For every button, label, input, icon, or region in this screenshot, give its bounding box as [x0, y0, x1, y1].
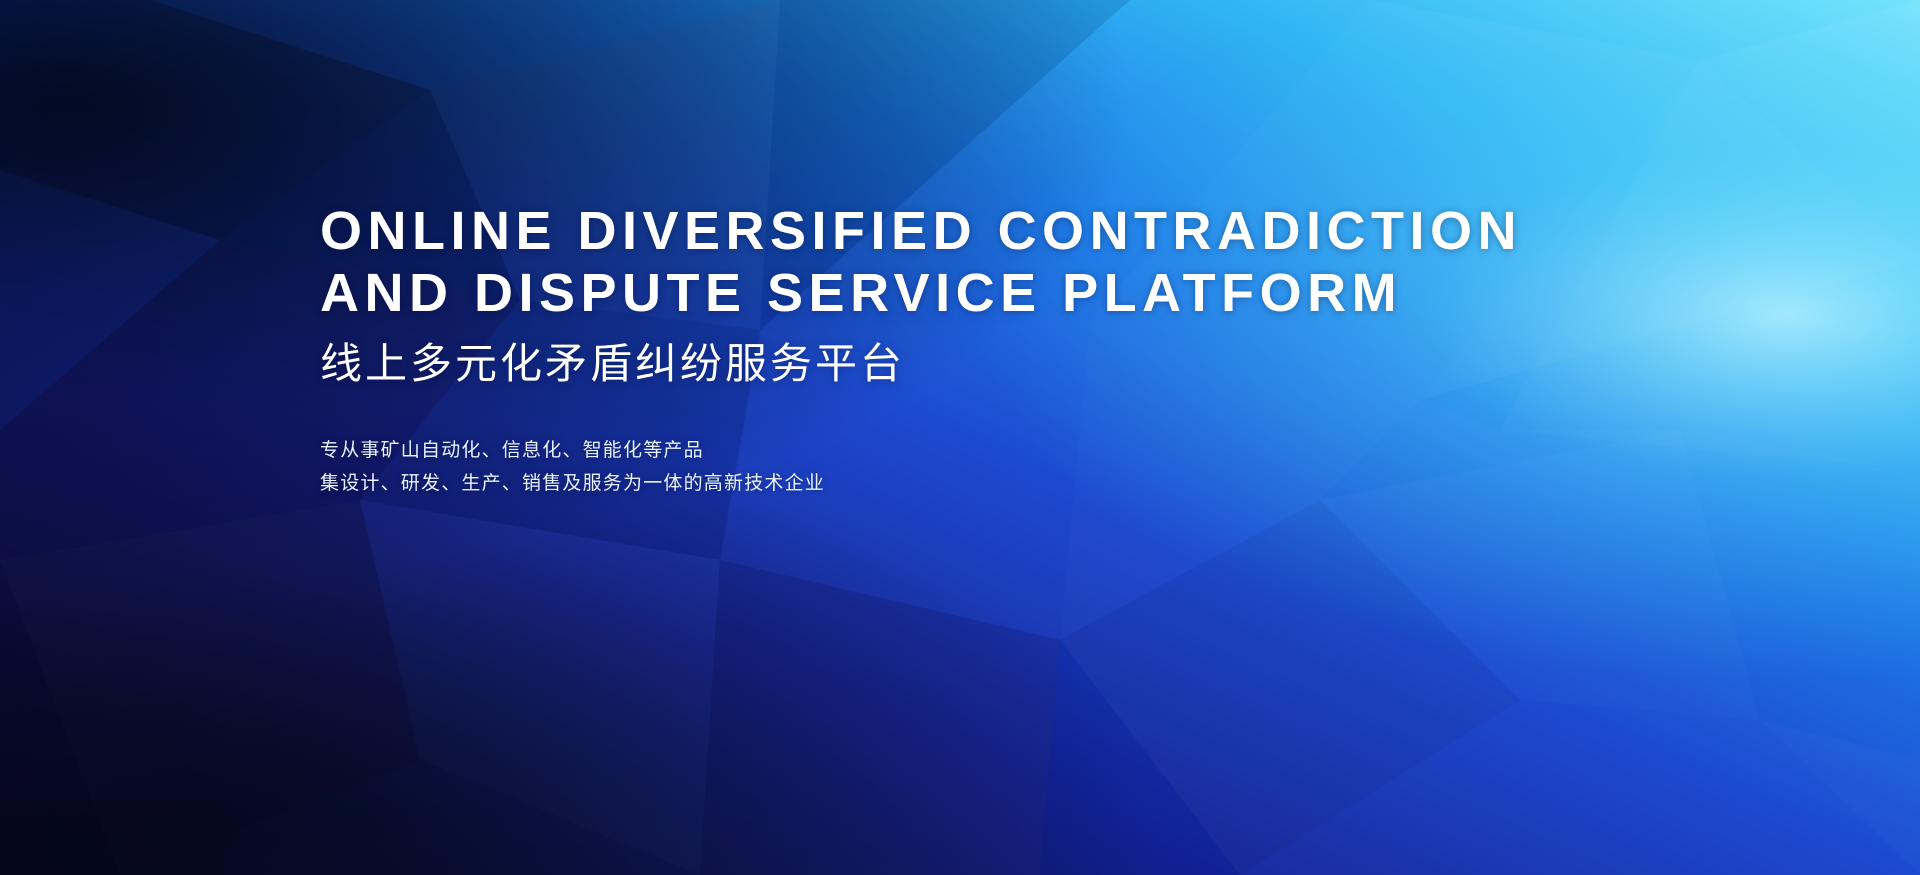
title-english-line-2: AND DISPUTE SERVICE PLATFORM — [320, 262, 1522, 324]
title-english-line-1: ONLINE DIVERSIFIED CONTRADICTION — [320, 200, 1522, 262]
description-line-2: 集设计、研发、生产、销售及服务为一体的高新技术企业 — [320, 467, 1522, 500]
hero-content: ONLINE DIVERSIFIED CONTRADICTION AND DIS… — [320, 200, 1522, 500]
description-block: 专从事矿山自动化、信息化、智能化等产品 集设计、研发、生产、销售及服务为一体的高… — [320, 434, 1522, 500]
description-line-1: 专从事矿山自动化、信息化、智能化等产品 — [320, 434, 1522, 467]
hero-banner: ONLINE DIVERSIFIED CONTRADICTION AND DIS… — [0, 0, 1920, 875]
title-chinese: 线上多元化矛盾纠纷服务平台 — [320, 338, 1522, 390]
